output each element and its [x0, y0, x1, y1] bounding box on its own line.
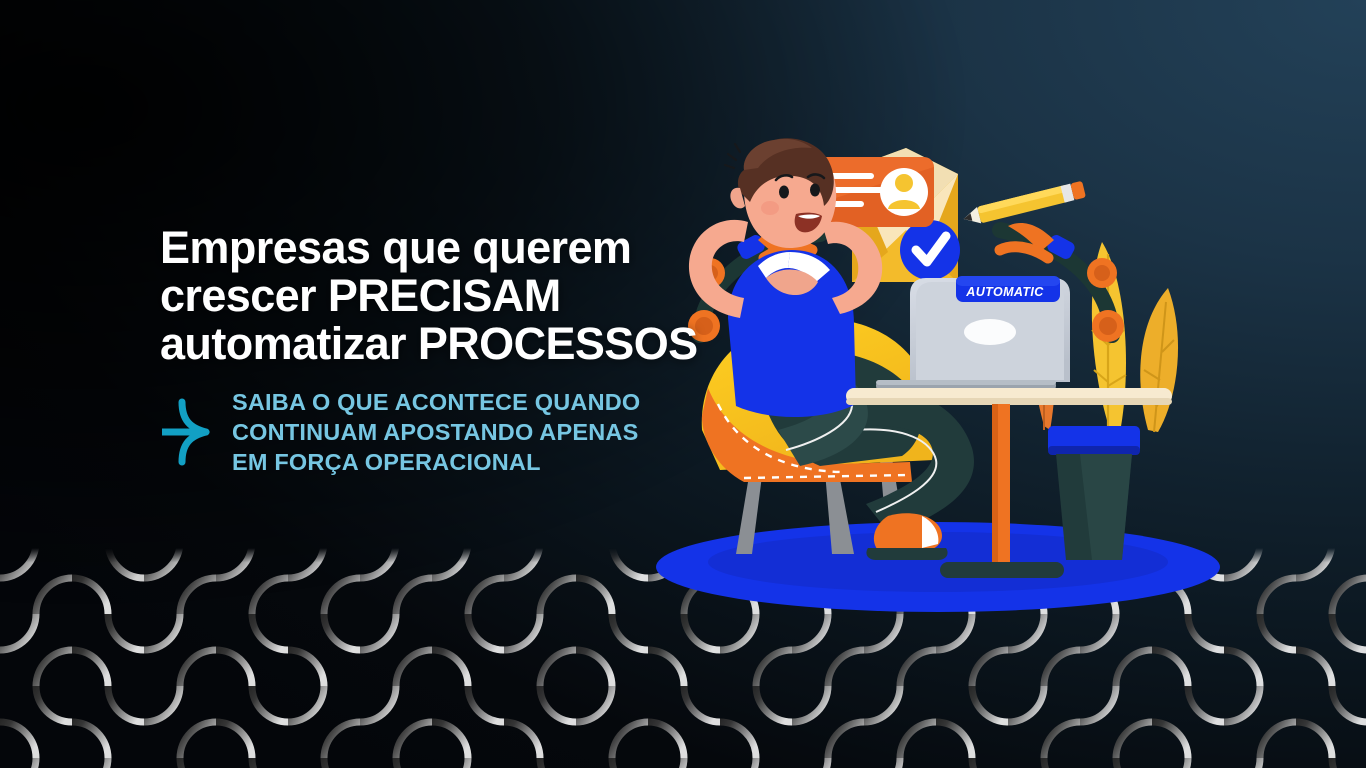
headline-line-1: Empresas que querem [160, 224, 760, 272]
subhead-line-2: CONTINUAM APOSTANDO APENAS [232, 419, 638, 445]
banner-root: AUTOMATIC Empresas que querem crescer PR… [0, 0, 1366, 768]
pencil-icon [962, 181, 1086, 227]
check-badge-icon [900, 220, 960, 280]
headline-line-3: automatizar PROCESSOS [160, 320, 760, 368]
subhead-line-3: EM FORÇA OPERACIONAL [232, 449, 541, 475]
subhead-line-1: SAIBA O QUE ACONTECE QUANDO [232, 389, 640, 415]
headline-line-2: crescer PRECISAM [160, 272, 760, 320]
copy-block: Empresas que querem crescer PRECISAM aut… [160, 224, 760, 368]
hero-illustration [640, 130, 1280, 630]
subhead-text: SAIBA O QUE ACONTECE QUANDO CONTINUAM AP… [232, 387, 640, 477]
arrow-right-icon [160, 396, 218, 468]
subhead-block: SAIBA O QUE ACONTECE QUANDO CONTINUAM AP… [160, 387, 640, 477]
